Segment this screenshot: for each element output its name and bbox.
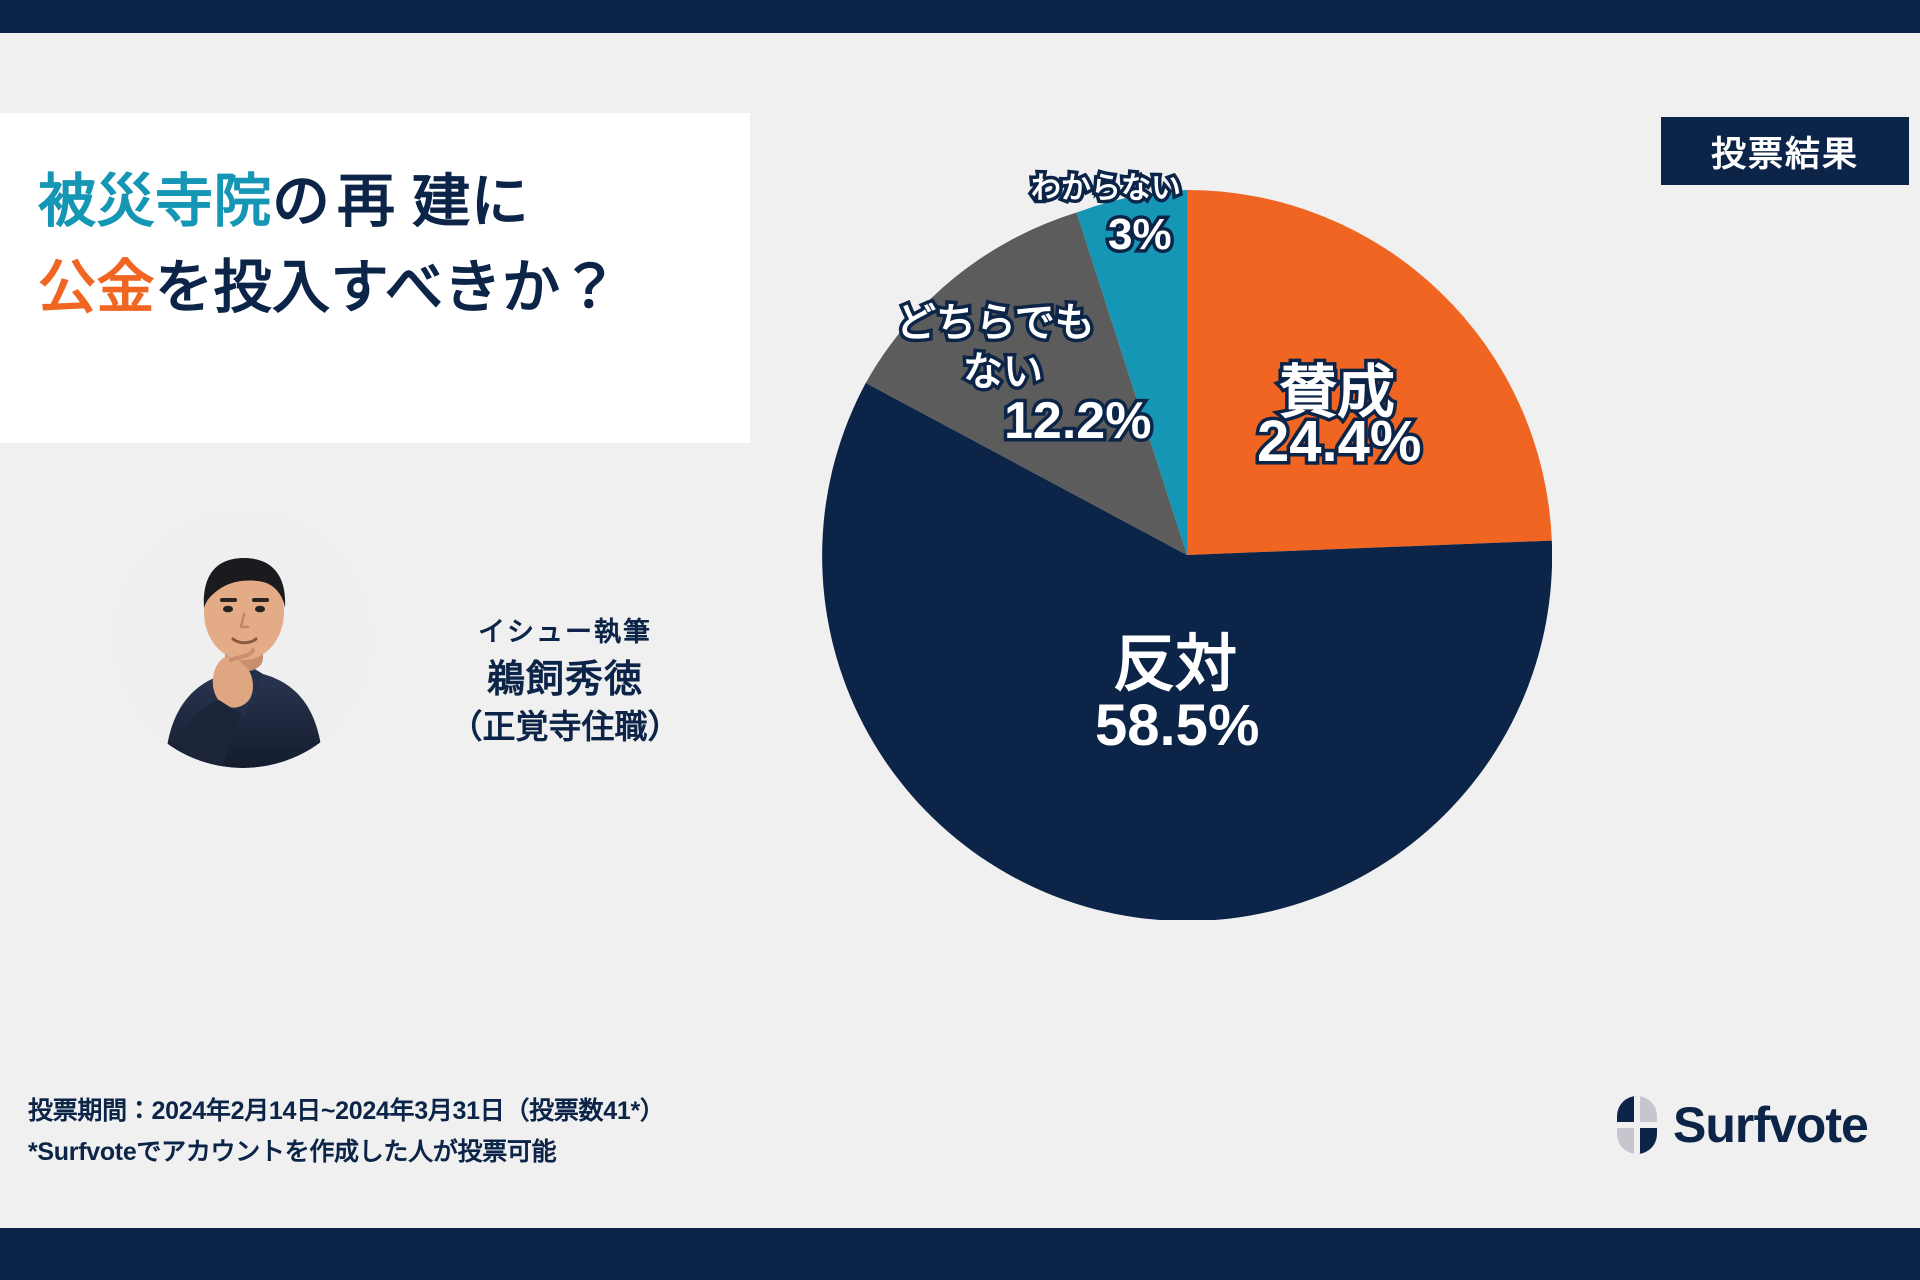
vote-note: *Surfvoteでアカウントを作成した人が投票可能 [28,1132,665,1173]
title-highlight-teal: 被災寺院 [38,169,272,234]
author-portrait [113,508,373,768]
title-text-ni: に [471,169,536,234]
author-org: （正覚寺住職） [400,706,730,748]
pie-label-dochira-value: 12.2% [1004,391,1151,451]
result-badge: 投票結果 [1661,117,1909,185]
pie-label-hantai-name: 反対 [1113,613,1237,703]
title-text-no: の [272,169,337,234]
pie-label-hantai-value: 58.5% [1095,692,1259,759]
author-info: イシュー執筆 鵜飼秀徳 （正覚寺住職） [400,615,730,748]
author-name: 鵜飼秀徳 [400,656,730,705]
pie-label-wakaranai-name: わからない [1031,163,1181,207]
pie-label-wakaranai-value: 3% [1108,210,1172,260]
title-text-saiken: 再 建 [337,169,471,234]
author-role: イシュー執筆 [400,615,730,650]
title-card: 被災寺院の再 建に 公金を投入すべきか？ [0,113,750,443]
pie-label-sansei-value: 24.4% [1257,408,1421,475]
title-line-1: 被災寺院の再 建に [38,173,738,231]
pie-label-dochira-name-2: ない [963,339,1043,397]
surfvote-wordmark: Surfvote [1673,1100,1868,1150]
title-block: 被災寺院の再 建に 公金を投入すべきか？ [38,173,738,317]
surfvote-mark-icon [1617,1096,1657,1154]
top-bar [0,0,1920,33]
surfvote-logo: Surfvote [1617,1096,1868,1154]
footnotes: 投票期間：2024年2月14日~2024年3月31日（投票数41*） *Surf… [28,1091,665,1172]
title-line-2: 公金を投入すべきか？ [38,259,738,317]
title-text-tail: を投入すべきか？ [155,255,619,320]
bottom-bar [0,1228,1920,1280]
poster-canvas: 被災寺院の再 建に 公金を投入すべきか？ [0,0,1920,1280]
title-highlight-orange: 公金 [38,255,155,320]
vote-period: 投票期間：2024年2月14日~2024年3月31日（投票数41*） [28,1091,665,1132]
